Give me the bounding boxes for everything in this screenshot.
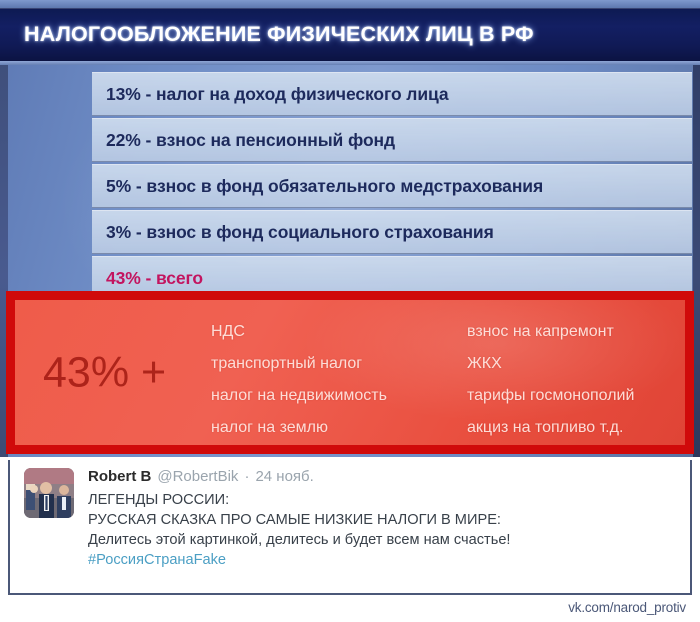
right-edge-strip <box>693 57 700 457</box>
screenshot-root: НАЛОГООБЛОЖЕНИЕ ФИЗИЧЕСКИХ ЛИЦ В РФ 13% … <box>0 0 700 622</box>
tweet-hashtag-link[interactable]: #РоссияСтранаFake <box>88 550 680 570</box>
avatar[interactable] <box>24 468 74 518</box>
tweet-header: Robert B @RobertBik · 24 нояб. <box>88 468 680 488</box>
total-percent-headline: 43% + <box>43 348 166 397</box>
table-row-text: 3% - взнос в фонд социального страховани… <box>106 222 494 243</box>
table-row-text: 13% - налог на доход физического лица <box>106 84 449 105</box>
tweet-separator-dot: · <box>244 468 249 485</box>
list-item: взнос на капремонт <box>467 316 634 348</box>
tweet-author-name[interactable]: Robert B <box>88 468 151 485</box>
table-row: 5% - взнос в фонд обязательного медстрах… <box>92 164 692 208</box>
list-item: ЖКХ <box>467 348 634 380</box>
tax-table: 13% - налог на доход физического лица 22… <box>92 72 692 302</box>
page-title: НАЛОГООБЛОЖЕНИЕ ФИЗИЧЕСКИХ ЛИЦ В РФ <box>24 22 534 47</box>
watermark: vk.com/narod_protiv <box>568 600 686 615</box>
additional-taxes-column-left: НДС транспортный налог налог на недвижим… <box>211 316 387 444</box>
user-photo-avatar-icon <box>24 468 74 518</box>
table-row: 13% - налог на доход физического лица <box>92 72 692 116</box>
list-item: акциз на топливо т.д. <box>467 412 634 444</box>
table-row-text: 5% - взнос в фонд обязательного медстрах… <box>106 176 543 197</box>
table-row: 22% - взнос на пенсионный фонд <box>92 118 692 162</box>
list-item: тарифы госмонополий <box>467 380 634 412</box>
additional-taxes-panel: 43% + НДС транспортный налог налог на не… <box>6 291 694 454</box>
tweet-body: Robert B @RobertBik · 24 нояб. ЛЕГЕНДЫ Р… <box>88 468 680 570</box>
table-row-text: 43% - всего <box>106 268 203 289</box>
tweet-author-handle[interactable]: @RobertBik <box>157 468 238 485</box>
tweet-text-line: ЛЕГЕНДЫ РОССИИ: <box>88 490 680 510</box>
list-item: налог на землю <box>211 412 387 444</box>
list-item: транспортный налог <box>211 348 387 380</box>
table-row: 3% - взнос в фонд социального страховани… <box>92 210 692 254</box>
additional-taxes-inner: 43% + НДС транспортный налог налог на не… <box>15 300 685 445</box>
tweet-text-line: РУССКАЯ СКАЗКА ПРО САМЫЕ НИЗКИЕ НАЛОГИ В… <box>88 510 680 530</box>
tweet-text-line: Делитесь этой картинкой, делитесь и буде… <box>88 530 680 550</box>
tweet-timestamp[interactable]: 24 нояб. <box>255 468 313 485</box>
table-row-text: 22% - взнос на пенсионный фонд <box>106 130 395 151</box>
list-item: налог на недвижимость <box>211 380 387 412</box>
tweet-card: Robert B @RobertBik · 24 нояб. ЛЕГЕНДЫ Р… <box>8 460 692 595</box>
infographic-header-band: НАЛОГООБЛОЖЕНИЕ ФИЗИЧЕСКИХ ЛИЦ В РФ <box>0 8 700 61</box>
list-item: НДС <box>211 316 387 348</box>
additional-taxes-column-right: взнос на капремонт ЖКХ тарифы госмонопол… <box>467 316 634 444</box>
infographic-panel: НАЛОГООБЛОЖЕНИЕ ФИЗИЧЕСКИХ ЛИЦ В РФ 13% … <box>0 0 700 457</box>
